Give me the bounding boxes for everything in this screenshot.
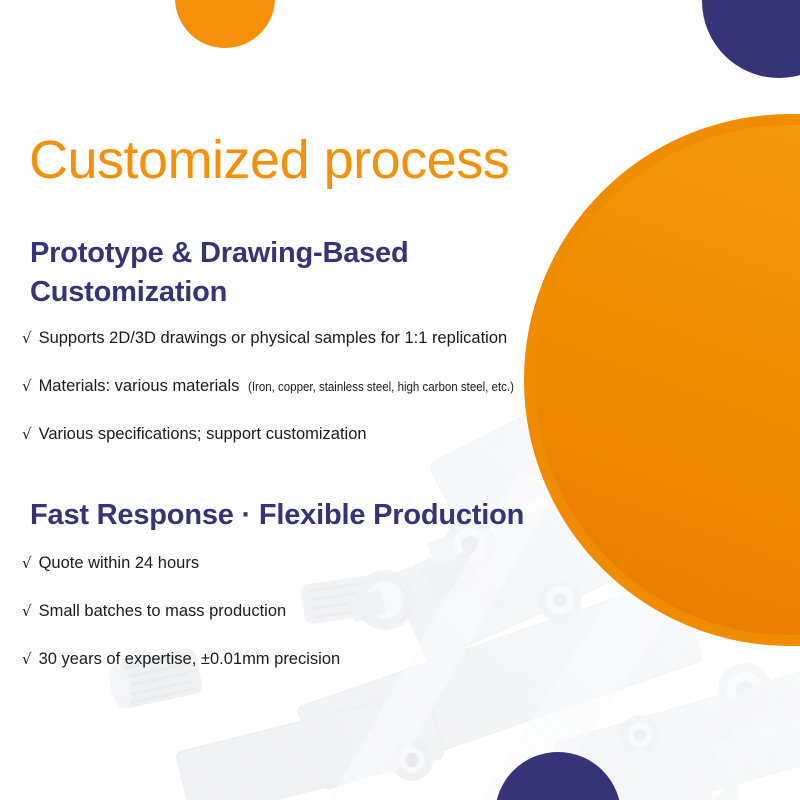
list-item-label: 30 years of expertise, ±0.01mm precision (39, 650, 341, 669)
section-heading-2: Fast Response · Flexible Production (30, 496, 590, 535)
page-title: Customized process (29, 133, 509, 187)
list-item: √ 30 years of expertise, ±0.01mm precisi… (22, 650, 340, 669)
check-icon: √ (22, 377, 32, 395)
check-icon: √ (22, 650, 32, 668)
list-item: √ Supports 2D/3D drawings or physical sa… (22, 329, 507, 348)
list-item-note: (Iron, copper, stainless steel, high car… (248, 380, 514, 394)
poster-canvas: MOBI GARDEN (0, 0, 800, 800)
list-item-label: Supports 2D/3D drawings or physical samp… (39, 329, 508, 348)
list-item: √ Various specifications; support custom… (22, 425, 367, 444)
list-item-label: Small batches to mass production (39, 602, 287, 621)
check-icon: √ (22, 425, 32, 443)
list-item: √ Small batches to mass production (22, 602, 286, 621)
check-icon: √ (22, 329, 32, 347)
list-item: √ Quote within 24 hours (22, 554, 199, 573)
check-icon: √ (22, 554, 32, 572)
section-heading-1: Prototype & Drawing-Based Customization (30, 234, 530, 312)
check-icon: √ (22, 602, 32, 620)
list-item-label: Quote within 24 hours (39, 554, 200, 573)
list-item-label: Materials: various materials (39, 377, 240, 396)
list-item: √ Materials: various materials (Iron, co… (22, 377, 537, 396)
content-column: Customized process Prototype & Drawing-B… (0, 0, 600, 800)
purple-circle-top-right (702, 0, 800, 78)
list-item-label: Various specifications; support customiz… (39, 425, 367, 444)
